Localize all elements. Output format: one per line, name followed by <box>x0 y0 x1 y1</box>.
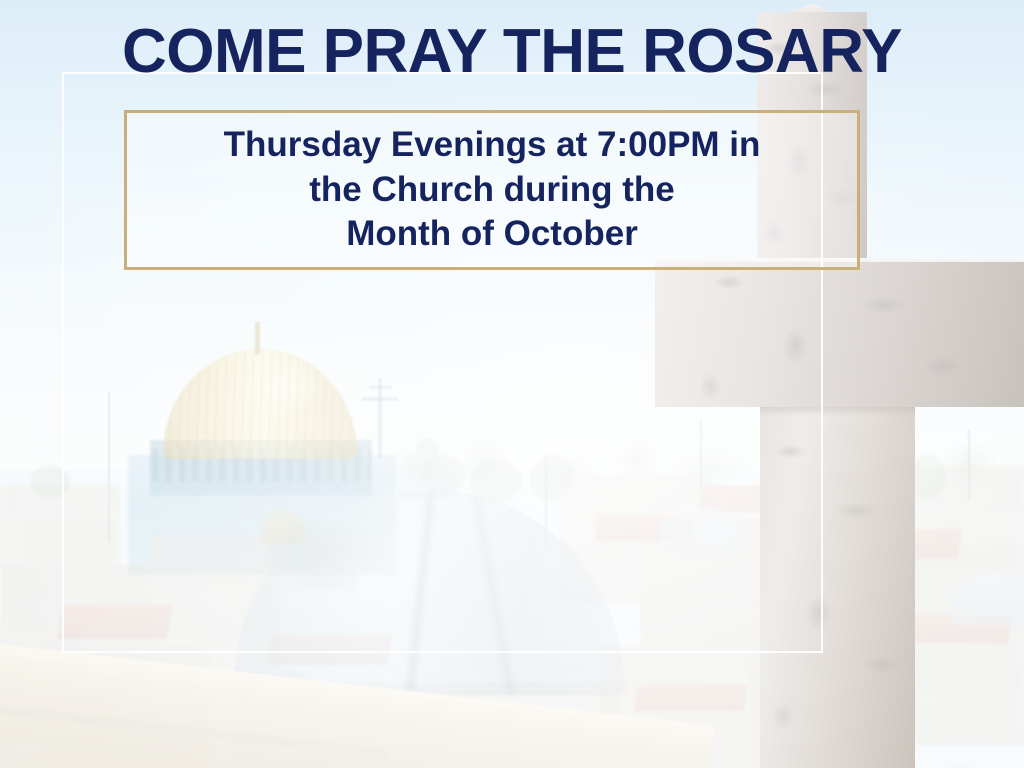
details-text: Thursday Evenings at 7:00PM in the Churc… <box>210 123 775 257</box>
cross-stone-texture <box>760 400 915 768</box>
cross-stone-texture <box>655 262 1024 407</box>
dome-weathering <box>268 520 388 600</box>
dome-lantern <box>399 452 455 498</box>
skyline-cross-bar <box>362 397 398 401</box>
skyline-cross-post <box>378 378 382 458</box>
slide-canvas: COME PRAY THE ROSARY Thursday Evenings a… <box>0 0 1024 768</box>
details-line-1: Thursday Evenings at 7:00PM in <box>224 123 761 168</box>
skyline-cross-bar-upper <box>369 386 391 389</box>
cross-arm <box>655 262 1024 407</box>
dome-of-the-rock-finial <box>255 322 260 354</box>
details-callout-box: Thursday Evenings at 7:00PM in the Churc… <box>124 110 860 270</box>
details-line-3: Month of October <box>224 212 761 257</box>
dome-lantern-cap <box>416 438 438 454</box>
cross-lower-post <box>760 400 915 768</box>
details-line-2: the Church during the <box>224 168 761 213</box>
page-title: COME PRAY THE ROSARY <box>0 20 1024 83</box>
